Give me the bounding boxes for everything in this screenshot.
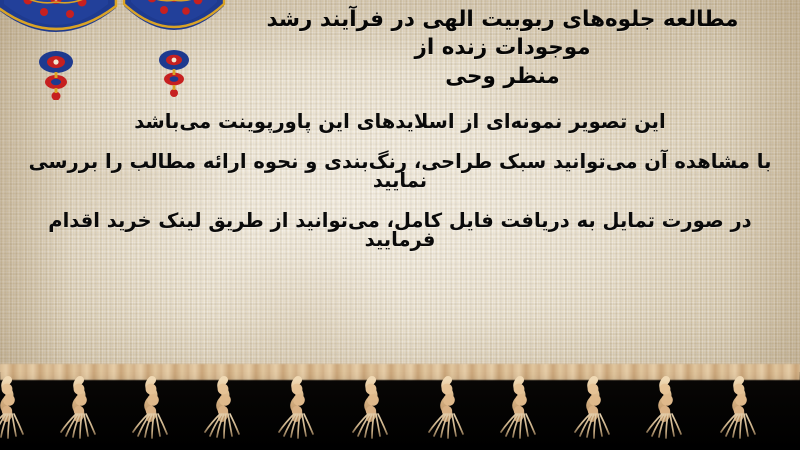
slide-canvas: مطالعه جلوه‌های ربوبیت الهی در فرآیند رش… <box>0 0 800 450</box>
carpet-pendant-motif-icon <box>39 51 73 100</box>
carpet-knotted-fringe <box>0 370 800 450</box>
title-line-2: منظر وحی <box>215 63 790 91</box>
slide-body: این تصویر نمونه‌ای از اسلایدهای این پاور… <box>28 112 772 250</box>
persian-carpet-medallion-icon <box>0 0 118 100</box>
persian-carpet-medallion-icon <box>122 0 226 100</box>
slide-title: مطالعه جلوه‌های ربوبیت الهی در فرآیند رش… <box>215 6 790 91</box>
body-line-3: در صورت تمایل به دریافت فایل کامل، می‌تو… <box>28 211 772 250</box>
body-line-2: با مشاهده آن می‌توانید سبک طراحی، رنگ‌بن… <box>28 152 772 191</box>
title-line-1: مطالعه جلوه‌های ربوبیت الهی در فرآیند رش… <box>215 6 790 63</box>
carpet-pendant-motif-icon <box>159 50 189 97</box>
body-line-1: این تصویر نمونه‌ای از اسلایدهای این پاور… <box>28 112 772 132</box>
